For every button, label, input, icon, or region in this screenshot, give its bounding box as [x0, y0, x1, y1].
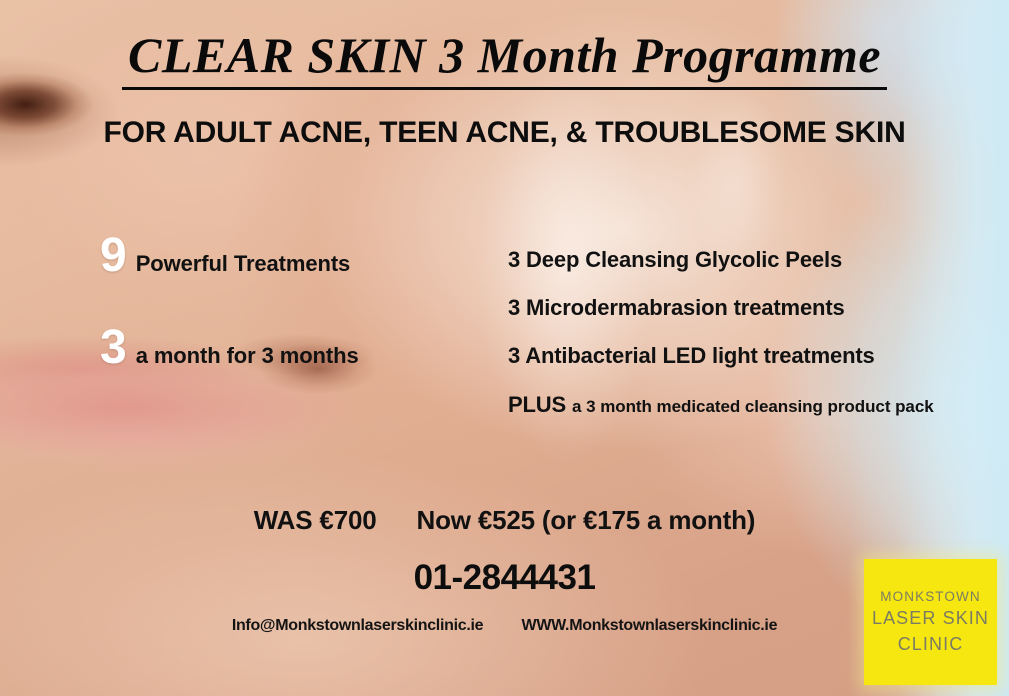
pricing-line: WAS €700 Now €525 (or €175 a month): [0, 505, 1009, 536]
stats-column: 9 Powerful Treatments 3 a month for 3 mo…: [100, 232, 430, 372]
stat-label: Powerful Treatments: [136, 251, 351, 277]
poster-canvas: CLEAR SKIN 3 Month Programme FOR ADULT A…: [0, 0, 1009, 696]
price-was: WAS €700: [254, 505, 377, 535]
poster-content: CLEAR SKIN 3 Month Programme FOR ADULT A…: [0, 0, 1009, 696]
plus-lead-text: PLUS: [508, 392, 566, 417]
clinic-logo: MONKSTOWN LASER SKIN CLINIC: [864, 559, 997, 685]
contact-line: Info@Monkstownlaserskinclinic.ie WWW.Mon…: [0, 617, 1009, 635]
treatment-item: 3 Microdermabrasion treatments: [508, 296, 998, 320]
price-now: Now €525 (or €175 a month): [417, 505, 756, 535]
treatment-item-plus: PLUS a 3 month medicated cleansing produ…: [508, 393, 998, 417]
treatments-list: 3 Deep Cleansing Glycolic Peels 3 Microd…: [508, 248, 998, 417]
logo-line-clinic: CLINIC: [898, 632, 964, 658]
treatment-item: 3 Deep Cleansing Glycolic Peels: [508, 248, 998, 272]
stat-label: a month for 3 months: [136, 343, 359, 369]
website-address[interactable]: WWW.Monkstownlaserskinclinic.ie: [522, 617, 778, 634]
plus-rest-text: a 3 month medicated cleansing product pa…: [572, 397, 934, 416]
poster-subtitle: FOR ADULT ACNE, TEEN ACNE, & TROUBLESOME…: [0, 116, 1009, 150]
treatment-item: 3 Antibacterial LED light treatments: [508, 344, 998, 368]
stat-row: 3 a month for 3 months: [100, 324, 430, 372]
phone-number[interactable]: 01-2844431: [0, 558, 1009, 598]
logo-line-monkstown: MONKSTOWN: [880, 587, 980, 606]
logo-line-laser-skin: LASER SKIN: [872, 606, 989, 632]
email-address[interactable]: Info@Monkstownlaserskinclinic.ie: [232, 617, 483, 634]
poster-title: CLEAR SKIN 3 Month Programme: [0, 26, 1009, 90]
stat-number: 9: [100, 232, 127, 280]
stat-row: 9 Powerful Treatments: [100, 232, 430, 280]
stat-number: 3: [100, 324, 127, 372]
poster-title-text: CLEAR SKIN 3 Month Programme: [122, 26, 887, 90]
